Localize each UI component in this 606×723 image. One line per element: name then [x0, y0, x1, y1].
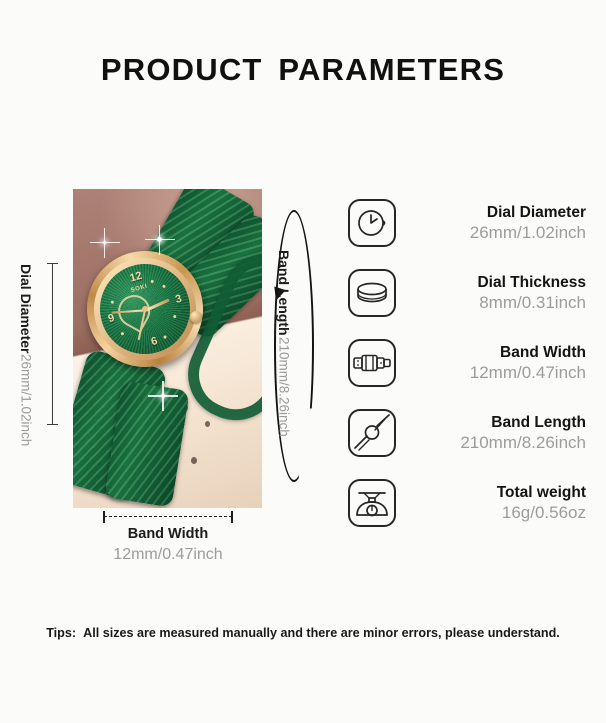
band-width-annotation: Band Width 12mm/0.47inch [73, 524, 263, 566]
dial-brand-text: SOKI [130, 284, 148, 294]
watch-dial-icon [348, 199, 396, 247]
dial-marker [173, 315, 177, 319]
dial-marker [163, 284, 167, 288]
spec-label-dial-thickness: Dial Thickness [396, 273, 586, 292]
sparkle-highlight [157, 237, 162, 242]
dial-diameter-annotation-value: 26mm/1.02inch [19, 354, 34, 446]
spec-label-band-length: Band Length [396, 413, 586, 432]
spec-row-dial-thickness: Dial Thickness 8mm/0.31inch [348, 258, 592, 328]
band-length-annotation-value: 210mm/8.26inch [277, 337, 292, 437]
cloth-dot [191, 457, 197, 464]
dial-marker [163, 335, 167, 339]
dial-marker [110, 300, 114, 304]
band-width-caliper [104, 516, 232, 518]
spec-text-band-width: Band Width 12mm/0.47inch [396, 343, 592, 384]
spec-text-dial-thickness: Dial Thickness 8mm/0.31inch [396, 273, 592, 314]
spec-text-band-length: Band Length 210mm/8.26inch [396, 413, 592, 454]
spec-text-total-weight: Total weight 16g/0.56oz [396, 483, 592, 524]
sparkle-highlight [103, 241, 106, 244]
band-length-annotation-label: Band Length [276, 250, 292, 336]
spec-value-band-width: 12mm/0.47inch [396, 362, 586, 384]
footer-tips-label: Tips: [46, 626, 76, 640]
spec-row-band-length: Band Length 210mm/8.26inch [348, 398, 592, 468]
spec-row-total-weight: Total weight 16g/0.56oz [348, 468, 592, 538]
dial-numeral-9: 9 [107, 312, 116, 325]
band-width-icon [348, 339, 396, 387]
spec-value-dial-diameter: 26mm/1.02inch [396, 222, 586, 244]
weight-scale-icon [348, 479, 396, 527]
page-title: PRODUCT PARAMETERS [0, 52, 606, 88]
product-photo: SOKI 12 3 6 9 [73, 189, 262, 508]
band-length-annotation: Band Length 210mm/8.26inch [276, 250, 292, 440]
spec-value-band-length: 210mm/8.26inch [396, 432, 586, 454]
spec-label-band-width: Band Width [396, 343, 586, 362]
band-width-annotation-label: Band Width [73, 524, 263, 544]
cloth-dot [205, 421, 210, 427]
band-width-annotation-value: 12mm/0.47inch [73, 544, 263, 566]
dial-numeral-3: 3 [174, 293, 183, 306]
footer-tips-text: All sizes are measured manually and ther… [83, 626, 560, 640]
spec-list: Dial Diameter 26mm/1.02inch Dial Thickne… [348, 188, 592, 538]
dial-marker [121, 332, 125, 336]
spec-row-dial-diameter: Dial Diameter 26mm/1.02inch [348, 188, 592, 258]
dial-diameter-caliper [52, 263, 53, 425]
footer-tips: Tips: All sizes are measured manually an… [0, 626, 606, 640]
spec-label-total-weight: Total weight [396, 483, 586, 502]
spec-value-total-weight: 16g/0.56oz [396, 502, 586, 524]
spec-text-dial-diameter: Dial Diameter 26mm/1.02inch [396, 203, 592, 244]
dial-numeral-6: 6 [150, 335, 159, 348]
dial-numeral-12: 12 [128, 270, 143, 285]
spec-label-dial-diameter: Dial Diameter [396, 203, 586, 222]
band-length-icon [348, 409, 396, 457]
dial-marker [150, 280, 154, 284]
sparkle-highlight [161, 394, 165, 398]
spec-value-dial-thickness: 8mm/0.31inch [396, 292, 586, 314]
dial-thickness-icon [348, 269, 396, 317]
dial-diameter-annotation: Dial Diameter 26mm/1.02inch [18, 264, 34, 424]
spec-row-band-width: Band Width 12mm/0.47inch [348, 328, 592, 398]
dial-diameter-annotation-label: Dial Diameter [18, 264, 34, 353]
watch-crown [190, 311, 202, 323]
